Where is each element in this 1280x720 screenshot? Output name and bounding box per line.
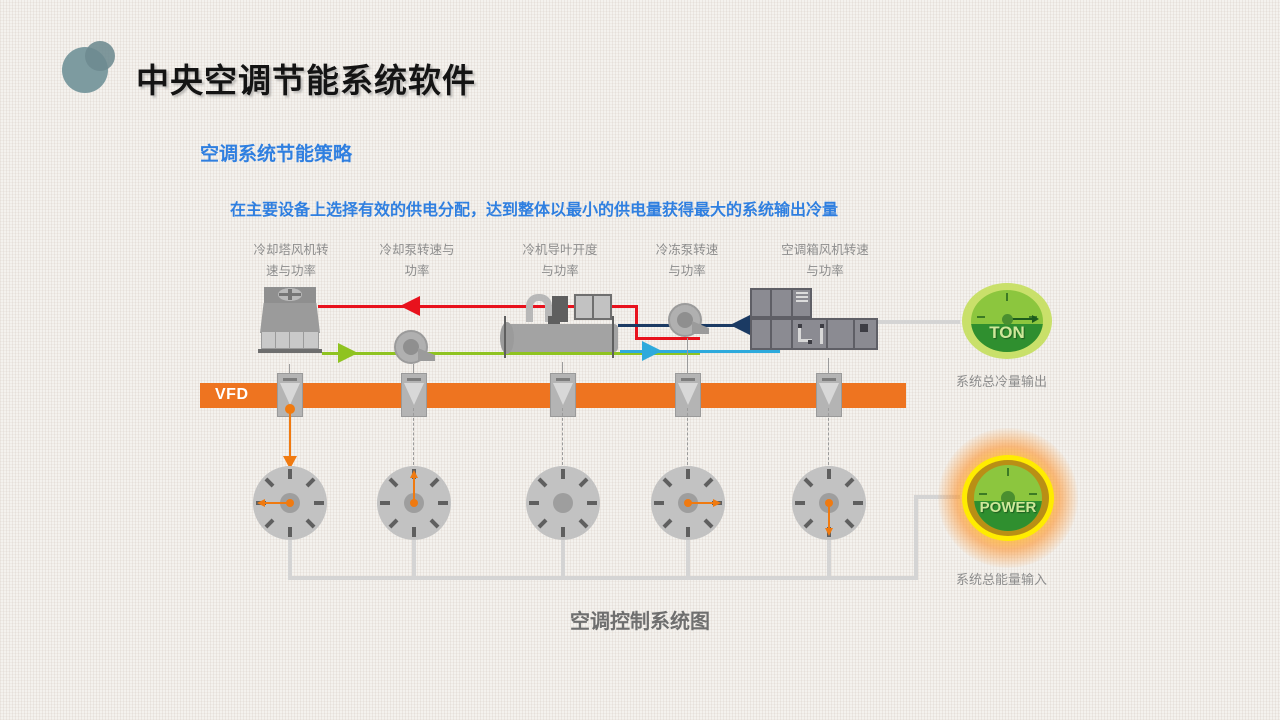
section-heading: 空调系统节能策略 [200,139,352,166]
power-bus-riser-3 [561,540,565,580]
motor-gauge-5[interactable] [792,466,866,540]
label-air-handling-unit: 空调箱风机转速 与功率 [752,240,898,282]
power-bus-riser-4 [686,540,690,580]
label-cooling-pump: 冷却泵转速与 功率 [350,240,484,282]
drive-motor-link-5 [828,408,830,465]
condenser-return-arrow-icon [400,296,422,316]
condenser-supply-arrow-icon [336,343,358,363]
motor-gauge-2[interactable] [377,466,451,540]
chilled-return-arrow-icon [730,315,752,335]
power-gauge-value: POWER [974,499,1042,516]
drive-motor-link-4 [687,408,689,465]
power-bus-riser-2 [412,540,416,580]
ton-connector-line [878,320,960,324]
motor-gauge-1[interactable] [253,466,327,540]
ton-gauge-caption: 系统总冷量输出 [956,371,1047,390]
label-chilled-pump: 冷冻泵转速 与功率 [625,240,749,282]
power-gauge-caption: 系统总能量输入 [956,569,1047,588]
power-gauge[interactable]: POWER [962,455,1054,541]
diagram-caption: 空调控制系统图 [0,605,1280,634]
label-chiller: 冷机导叶开度 与功率 [490,240,630,282]
power-bus-riser-1 [288,540,292,580]
page-title: 中央空调节能系统软件 [136,54,476,102]
air-handling-unit-icon [750,288,878,358]
drive-motor-link-3 [562,408,564,465]
ton-gauge[interactable]: TON [962,283,1052,359]
cooling-pump-icon [394,330,436,368]
power-bus-riser-5 [827,540,831,580]
chiller-icon [498,292,626,362]
power-bus-horizontal [288,576,918,580]
motor-gauge-3[interactable] [526,466,600,540]
chilled-supply-arrow-icon [640,341,662,361]
section-subheading: 在主要设备上选择有效的供电分配，达到整体以最小的供电量获得最大的系统输出冷量 [230,196,838,220]
motor-gauge-4[interactable] [651,466,725,540]
drive-motor-link-2 [413,408,415,465]
label-cooling-tower: 冷却塔风机转 速与功率 [222,240,360,282]
condenser-return-pipe-down [635,305,638,340]
power-bus-to-gauge [914,497,918,580]
vfd-bus-label: VFD [215,386,249,404]
chilled-pump-icon [668,303,710,341]
circles-logo-icon [62,41,114,93]
slide-canvas: 中央空调节能系统软件 空调系统节能策略 在主要设备上选择有效的供电分配，达到整体… [0,0,1280,720]
ton-gauge-value: TON [971,323,1043,343]
drive-tap-dot-1 [285,404,295,414]
cooling-tower-icon [258,287,322,355]
